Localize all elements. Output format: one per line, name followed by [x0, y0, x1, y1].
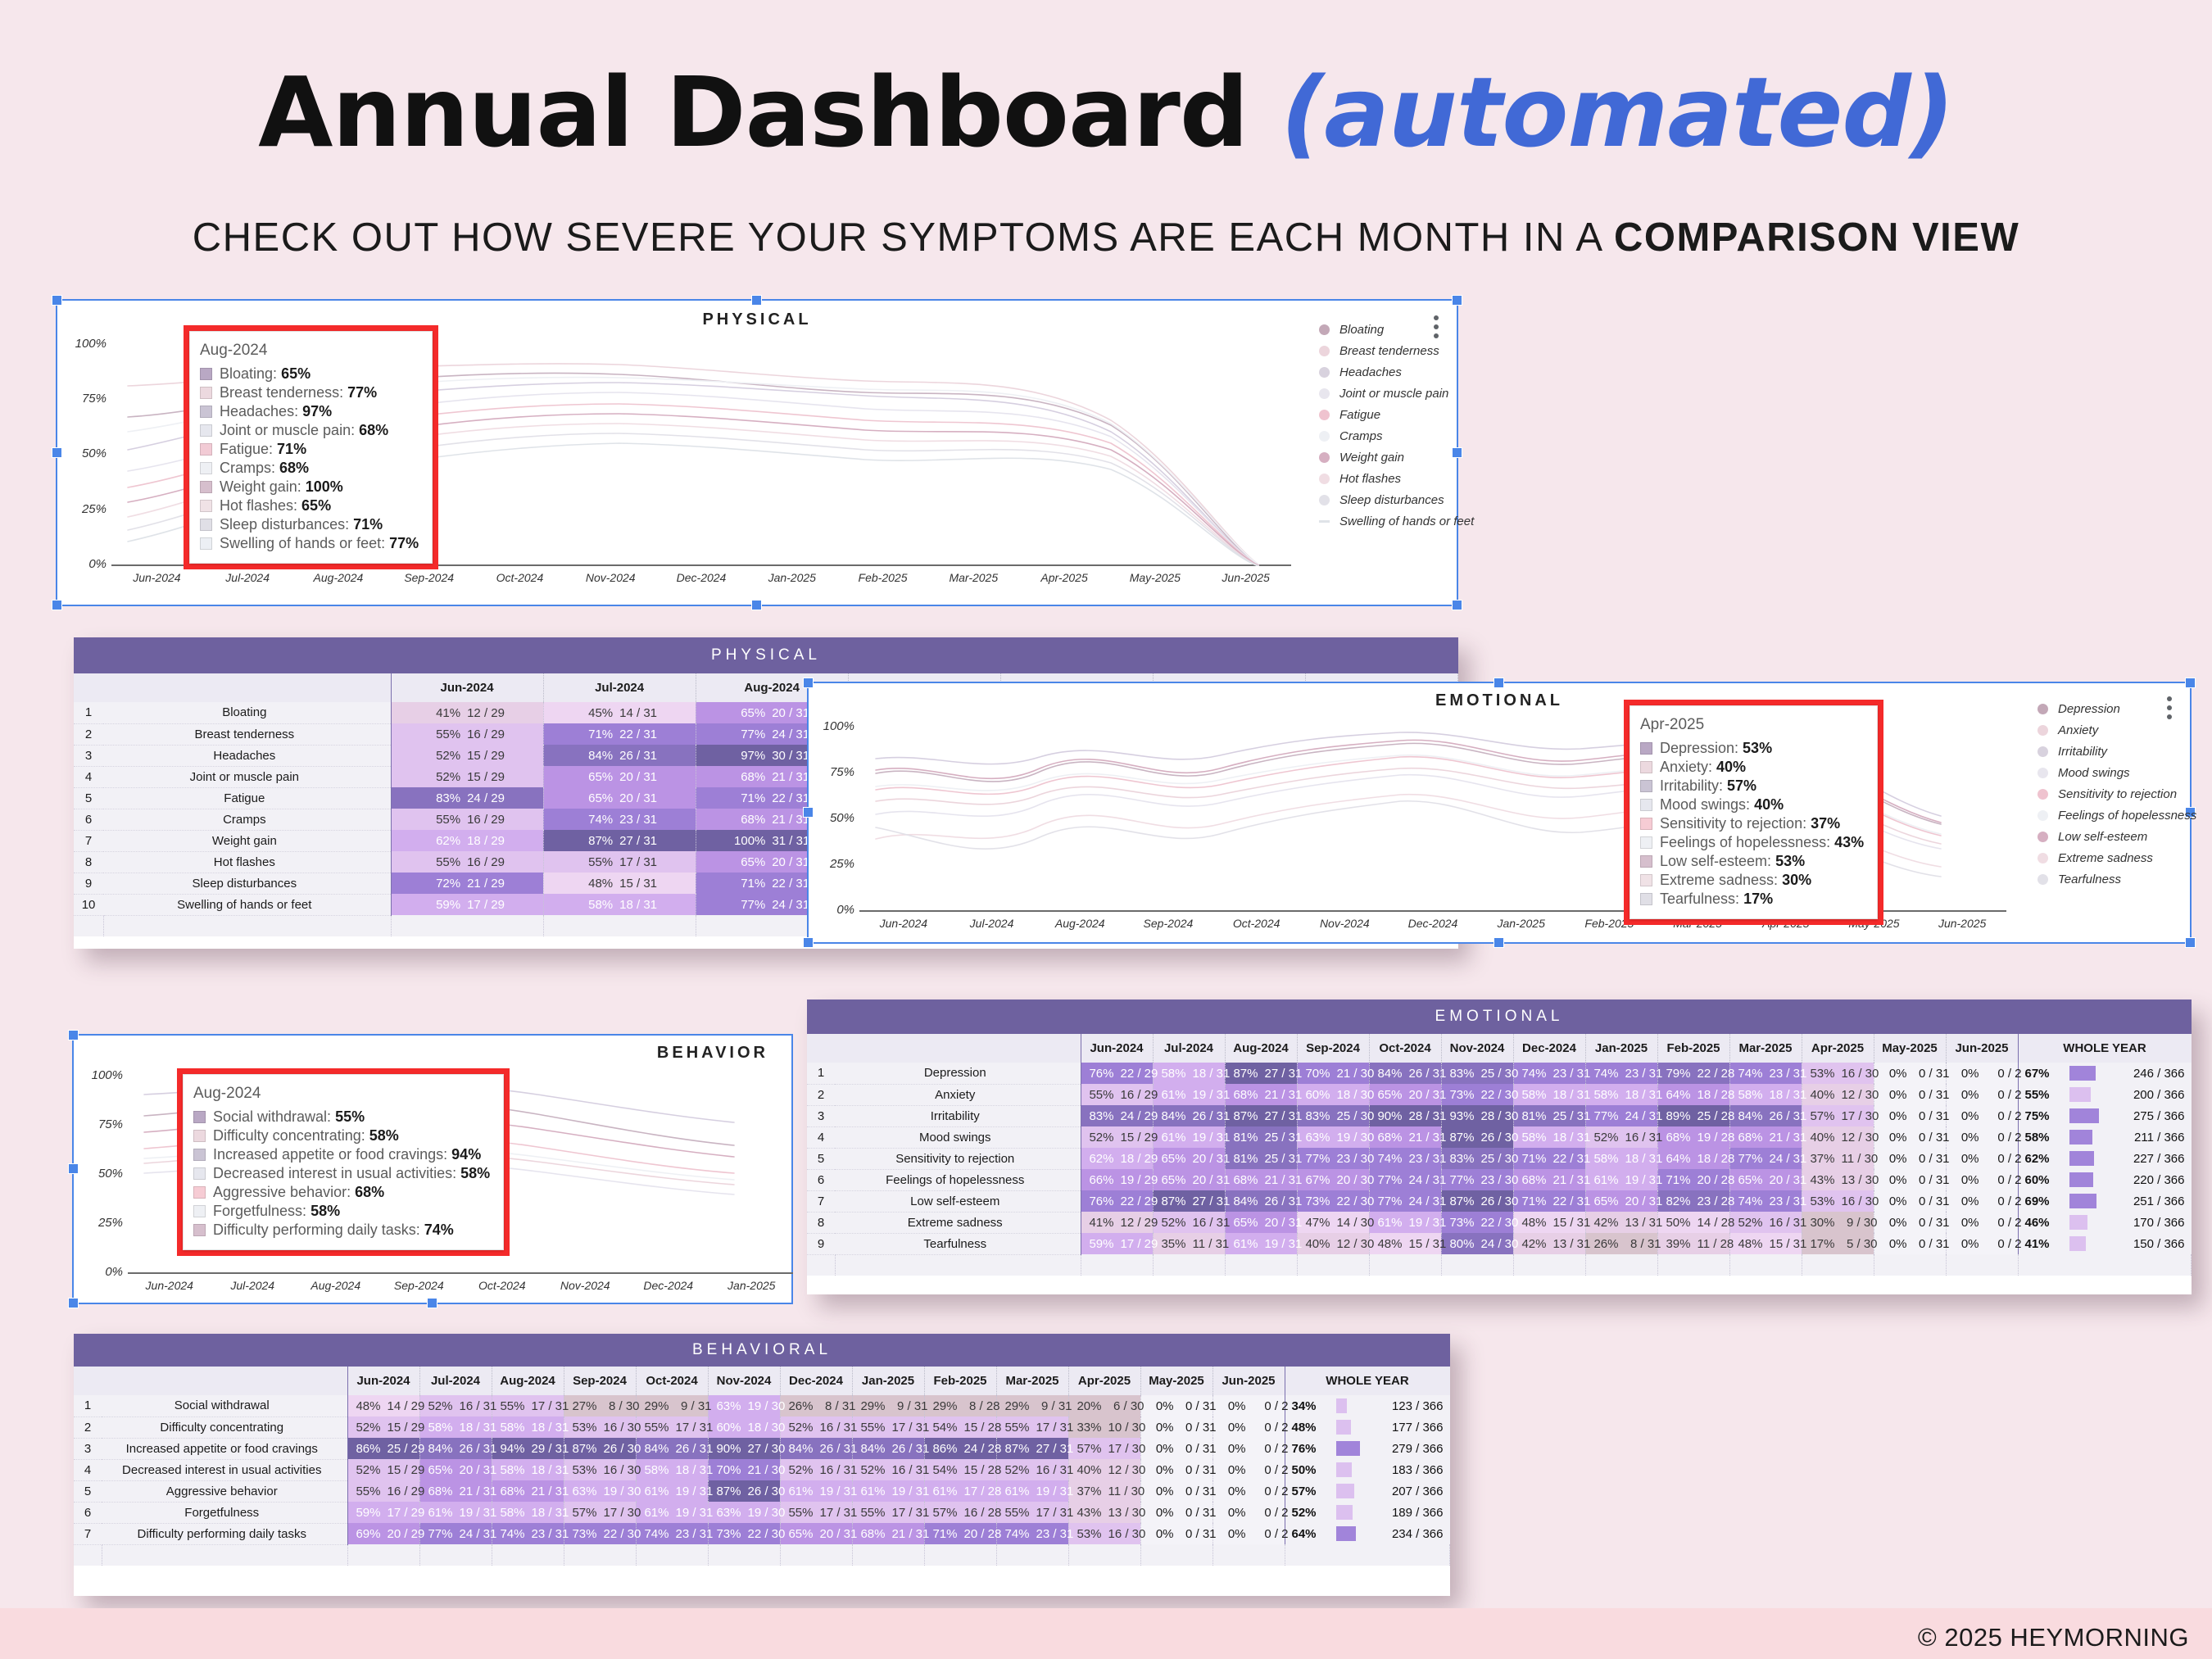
- legend-dot-icon: [1319, 495, 1330, 505]
- cell-days: 20 / 31: [820, 1527, 858, 1541]
- cell-days: 0 / 2: [1986, 1088, 2022, 1102]
- month-cell: 77%24 / 31: [1729, 1148, 1802, 1169]
- month-cell: 0%0 / 2: [1946, 1212, 2018, 1233]
- cell-days: 18 / 31: [1625, 1088, 1663, 1102]
- y-tick-25: 25%: [64, 502, 107, 516]
- month-cell: 29%8 / 28: [924, 1395, 996, 1416]
- cell-days: 25 / 31: [1265, 1152, 1303, 1166]
- cell-days: 0 / 2: [1986, 1067, 2022, 1081]
- col-whole-year: WHOLE YEAR: [1285, 1367, 1450, 1395]
- month-cell: 55%17 / 31: [996, 1416, 1068, 1438]
- col-symptom: [102, 1367, 347, 1395]
- cell-days: 19 / 29: [1121, 1173, 1158, 1187]
- resize-handle-bottom-center[interactable]: [427, 1298, 437, 1308]
- row-index: 5: [807, 1148, 835, 1169]
- legend-label: Cramps: [1339, 429, 1383, 443]
- month-cell: 45%14 / 31: [543, 702, 696, 723]
- cell-days: 0 / 2: [1986, 1216, 2022, 1230]
- col-index: [74, 1367, 102, 1395]
- legend-label: Weight gain: [1339, 451, 1404, 465]
- physical-chart-widget[interactable]: PHYSICAL 100% 75% 50% 25% 0%: [56, 299, 1458, 606]
- x-tick: Jun-2024: [111, 571, 202, 584]
- tooltip-value: 74%: [424, 1222, 454, 1239]
- cell-days: 22 / 30: [1481, 1216, 1519, 1230]
- cell-days: 24 / 31: [1409, 1194, 1447, 1208]
- legend-item[interactable]: Headaches: [1319, 361, 1474, 383]
- whole-year-fraction: 189 / 366: [1368, 1506, 1444, 1520]
- legend-item[interactable]: Depression: [2037, 698, 2196, 719]
- month-cell: 79%22 / 28: [1657, 1063, 1729, 1084]
- month-cell: 74%23 / 31: [1369, 1148, 1441, 1169]
- cell-days: 23 / 31: [1036, 1527, 1074, 1541]
- month-cell: 48%15 / 31: [1513, 1212, 1585, 1233]
- cell-percent: 45%: [582, 706, 613, 720]
- cell-days: 8 / 31: [820, 1399, 856, 1413]
- resize-handle-mid-left[interactable]: [52, 447, 62, 458]
- col-month: Feb-2025: [1657, 1034, 1729, 1063]
- behavioral-table-card: BEHAVIORAL Jun-2024Jul-2024Aug-2024Sep-2…: [74, 1334, 1450, 1596]
- cell-days: 26 / 30: [1481, 1131, 1519, 1145]
- emotional-chart-widget[interactable]: EMOTIONAL 100% 75% 50% 25% 0%: [807, 682, 2192, 944]
- resize-handle-bottom-center[interactable]: [1494, 937, 1504, 948]
- cell-percent: 52%: [1155, 1216, 1186, 1230]
- month-cell: 0%0 / 2: [1213, 1523, 1285, 1544]
- resize-handle-bottom-right[interactable]: [1452, 600, 1462, 610]
- cell-days: 22 / 30: [1337, 1194, 1375, 1208]
- cell-days: 24 / 29: [1121, 1109, 1158, 1123]
- month-cell: 0%0 / 2: [1213, 1480, 1285, 1502]
- legend-item[interactable]: Swelling of hands or feet: [1319, 510, 1474, 532]
- cell-percent: 68%: [734, 770, 765, 784]
- month-cell: 58%18 / 31: [1585, 1148, 1657, 1169]
- legend-item[interactable]: Joint or muscle pain: [1319, 383, 1474, 404]
- month-cell: 58%18 / 31: [636, 1459, 708, 1480]
- cell-days: 0 / 2: [1986, 1237, 2022, 1251]
- legend-item[interactable]: Anxiety: [2037, 719, 2196, 741]
- month-cell: 70%21 / 30: [1297, 1063, 1369, 1084]
- month-cell: 66%19 / 29: [1081, 1169, 1153, 1190]
- cell-percent: 65%: [582, 770, 613, 784]
- cell-percent: 79%: [1660, 1067, 1691, 1081]
- cell-percent: 84%: [582, 749, 613, 763]
- cell-percent: 73%: [1444, 1088, 1475, 1102]
- month-cell: 41%12 / 29: [391, 702, 543, 723]
- emotional-tooltip-highlight: Apr-2025 Depression:53%Anxiety:40%Irrita…: [1624, 700, 1883, 925]
- cell-percent: 58%: [638, 1463, 669, 1477]
- month-cell: 83%25 / 30: [1441, 1148, 1513, 1169]
- tooltip-row: Aggressive behavior:68%: [193, 1183, 490, 1202]
- month-cell: 0%0 / 31: [1140, 1480, 1213, 1502]
- cell-percent: 68%: [494, 1484, 525, 1498]
- month-cell: 55%16 / 29: [347, 1480, 419, 1502]
- cell-percent: 77%: [1588, 1109, 1619, 1123]
- month-cell: 68%21 / 31: [852, 1523, 924, 1544]
- page-subtitle-text: CHECK OUT HOW SEVERE YOUR SYMPTOMS ARE E…: [193, 215, 1614, 260]
- month-cell: 0%0 / 31: [1140, 1438, 1213, 1459]
- legend-item[interactable]: Tearfulness: [2037, 868, 2196, 890]
- cell-percent: 93%: [1444, 1109, 1475, 1123]
- cell-days: 27 / 31: [1265, 1109, 1303, 1123]
- table-row: 6Feelings of hopelessness66%19 / 2965%20…: [807, 1169, 2192, 1190]
- month-cell: 43%13 / 30: [1068, 1502, 1140, 1523]
- month-cell: 0%0 / 31: [1140, 1395, 1213, 1416]
- x-tick: May-2025: [1109, 571, 1200, 584]
- cell-days: 21 / 31: [1770, 1131, 1807, 1145]
- month-cell: 68%21 / 31: [1225, 1169, 1297, 1190]
- cell-days: 21 / 31: [460, 1484, 497, 1498]
- tooltip-value: 17%: [1743, 891, 1773, 908]
- cell-percent: 67%: [1299, 1173, 1330, 1187]
- y-tick-50: 50%: [64, 446, 107, 460]
- col-month: May-2025: [1874, 1034, 1946, 1063]
- cell-percent: 71%: [1516, 1194, 1547, 1208]
- cell-days: 16 / 31: [820, 1421, 858, 1435]
- whole-year-bar: [2069, 1108, 2100, 1123]
- month-cell: 40%12 / 30: [1068, 1459, 1140, 1480]
- cell-percent: 0%: [1143, 1463, 1174, 1477]
- cell-days: 12 / 29: [1121, 1216, 1158, 1230]
- cell-percent: 41%: [1083, 1216, 1114, 1230]
- row-index: 3: [74, 1438, 102, 1459]
- cell-percent: 61%: [638, 1506, 669, 1520]
- behavior-chart-widget[interactable]: BEHAVIOR 100% 75% 50% 25% 0% Jun-2024Jul…: [72, 1034, 793, 1304]
- month-cell: 65%20 / 31: [543, 766, 696, 787]
- legend-item[interactable]: Feelings of hopelessness: [2037, 805, 2196, 826]
- whole-year-percent: 41%: [2025, 1237, 2069, 1251]
- table-row: 3Irritability83%24 / 2984%26 / 3187%27 /…: [807, 1105, 2192, 1126]
- month-cell: 68%21 / 31: [1225, 1084, 1297, 1105]
- tooltip-row: Extreme sadness:30%: [1640, 871, 1864, 890]
- legend-label: Extreme sadness: [2058, 851, 2153, 865]
- physical-table-band: PHYSICAL: [74, 637, 1458, 673]
- cell-percent: 65%: [782, 1527, 814, 1541]
- cell-days: 24 / 31: [772, 728, 809, 741]
- cell-percent: 61%: [1371, 1216, 1403, 1230]
- table-row: 2Difficulty concentrating52%15 / 2958%18…: [74, 1416, 1450, 1438]
- cell-days: 19 / 31: [1036, 1484, 1074, 1498]
- tooltip-label: Mood swings:: [1660, 796, 1750, 814]
- cell-percent: 53%: [1071, 1527, 1102, 1541]
- cell-days: 30 / 31: [772, 749, 809, 763]
- month-cell: 0%0 / 2: [1946, 1190, 2018, 1212]
- cell-days: 25 / 30: [1337, 1109, 1375, 1123]
- month-cell: 84%26 / 31: [1225, 1190, 1297, 1212]
- cell-days: 19 / 31: [1193, 1088, 1231, 1102]
- month-cell: 61%19 / 31: [1225, 1233, 1297, 1254]
- cell-days: 27 / 31: [1193, 1194, 1231, 1208]
- cell-percent: 84%: [422, 1442, 453, 1456]
- x-tick: Dec-2024: [656, 571, 747, 584]
- row-index: 4: [74, 1459, 102, 1480]
- month-cell: 0%0 / 2: [1946, 1084, 2018, 1105]
- cell-days: 17 / 31: [820, 1506, 858, 1520]
- month-cell: 0%0 / 2: [1946, 1148, 2018, 1169]
- col-month: Jun-2024: [391, 673, 543, 702]
- month-cell: 93%28 / 30: [1441, 1105, 1513, 1126]
- cell-days: 12 / 29: [467, 706, 505, 720]
- month-cell: 74%23 / 31: [1513, 1063, 1585, 1084]
- cell-days: 19 / 31: [676, 1506, 714, 1520]
- tooltip-value: 71%: [353, 516, 383, 533]
- cell-days: 17 / 31: [619, 855, 657, 869]
- tooltip-row: Forgetfulness:58%: [193, 1202, 490, 1221]
- resize-handle-bottom-right[interactable]: [2185, 937, 2196, 948]
- resize-handle-bottom-left[interactable]: [803, 937, 814, 948]
- tooltip-row: Feelings of hopelessness:43%: [1640, 833, 1864, 852]
- month-cell: 0%0 / 31: [1140, 1459, 1213, 1480]
- tooltip-swatch-icon: [193, 1167, 206, 1180]
- month-cell: 61%19 / 31: [780, 1480, 852, 1502]
- cell-percent: 17%: [1804, 1237, 1835, 1251]
- tooltip-value: 53%: [1775, 853, 1805, 870]
- cell-days: 23 / 31: [676, 1527, 714, 1541]
- cell-days: 19 / 31: [1625, 1173, 1663, 1187]
- month-cell: 26%8 / 31: [1585, 1233, 1657, 1254]
- cell-percent: 87%: [1444, 1194, 1475, 1208]
- whole-year-bar-track: [1336, 1398, 1368, 1413]
- page-title-main: Annual Dashboard: [258, 56, 1281, 169]
- cell-days: 17 / 31: [892, 1506, 930, 1520]
- tooltip-label: Aggressive behavior:: [213, 1184, 351, 1201]
- whole-year-percent: 50%: [1292, 1463, 1336, 1477]
- legend-item[interactable]: Breast tenderness: [1319, 340, 1474, 361]
- resize-handle-bottom-center[interactable]: [751, 600, 762, 610]
- col-month: Dec-2024: [780, 1367, 852, 1395]
- cell-percent: 0%: [1876, 1216, 1907, 1230]
- tooltip-row: Increased appetite or food cravings:94%: [193, 1145, 490, 1164]
- legend-item[interactable]: Fatigue: [1319, 404, 1474, 425]
- month-cell: 84%26 / 31: [1729, 1105, 1802, 1126]
- cell-days: 15 / 28: [964, 1463, 1002, 1477]
- resize-handle-top-center[interactable]: [751, 295, 762, 306]
- col-month: Apr-2025: [1068, 1367, 1140, 1395]
- month-cell: 40%12 / 30: [1802, 1126, 1874, 1148]
- month-cell: 0%0 / 31: [1140, 1523, 1213, 1544]
- tooltip-swatch-icon: [200, 519, 212, 531]
- cell-days: 19 / 31: [820, 1484, 858, 1498]
- cell-days: 8 / 31: [1625, 1237, 1661, 1251]
- row-symptom-name: Low self-esteem: [835, 1190, 1081, 1212]
- month-cell: 55%17 / 31: [780, 1502, 852, 1523]
- month-cell: 0%0 / 31: [1874, 1105, 1946, 1126]
- cell-days: 15 / 29: [467, 770, 505, 784]
- cell-days: 26 / 31: [892, 1442, 930, 1456]
- cell-days: 23 / 31: [532, 1527, 569, 1541]
- month-cell: 63%19 / 30: [708, 1502, 780, 1523]
- month-cell: 55%17 / 31: [852, 1502, 924, 1523]
- month-cell: 0%0 / 31: [1874, 1212, 1946, 1233]
- tooltip-value: 58%: [310, 1203, 340, 1220]
- cell-percent: 87%: [710, 1484, 741, 1498]
- cell-percent: 63%: [710, 1399, 741, 1413]
- month-cell: 86%25 / 29: [347, 1438, 419, 1459]
- tooltip-row: Low self-esteem:53%: [1640, 852, 1864, 871]
- legend-item[interactable]: Mood swings: [2037, 762, 2196, 783]
- tooltip-label: Decreased interest in usual activities:: [213, 1165, 456, 1182]
- month-cell: 87%26 / 30: [708, 1480, 780, 1502]
- legend-item[interactable]: Sensitivity to rejection: [2037, 783, 2196, 805]
- cell-percent: 41%: [429, 706, 460, 720]
- month-cell: 55%16 / 29: [391, 723, 543, 745]
- cell-days: 0 / 31: [1914, 1131, 1950, 1145]
- month-cell: 55%16 / 29: [391, 809, 543, 830]
- month-cell: 0%0 / 31: [1874, 1190, 1946, 1212]
- cell-days: 22 / 28: [1698, 1067, 1735, 1081]
- month-cell: 87%26 / 30: [1441, 1126, 1513, 1148]
- cell-percent: 70%: [1299, 1067, 1330, 1081]
- tooltip-value: 30%: [1782, 872, 1811, 889]
- cell-days: 15 / 29: [467, 749, 505, 763]
- whole-year-cell: 55%200 / 366: [2018, 1084, 2192, 1105]
- row-index: 7: [74, 830, 103, 851]
- cell-percent: 77%: [1371, 1194, 1403, 1208]
- legend-item[interactable]: Extreme sadness: [2037, 847, 2196, 868]
- legend-item[interactable]: Low self-esteem: [2037, 826, 2196, 847]
- cell-days: 8 / 28: [964, 1399, 1000, 1413]
- cell-percent: 0%: [1143, 1421, 1174, 1435]
- legend-item[interactable]: Irritability: [2037, 741, 2196, 762]
- row-symptom-name: Mood swings: [835, 1126, 1081, 1148]
- table-row: 1Depression76%22 / 2958%18 / 3187%27 / 3…: [807, 1063, 2192, 1084]
- tooltip-label: Cramps:: [220, 460, 275, 477]
- whole-year-fraction: 275 / 366: [2110, 1109, 2185, 1123]
- y-tick-75: 75%: [64, 392, 107, 406]
- month-cell: 0%0 / 2: [1213, 1395, 1285, 1416]
- cell-percent: 68%: [854, 1527, 886, 1541]
- month-cell: 52%16 / 31: [1729, 1212, 1802, 1233]
- month-cell: 90%28 / 31: [1369, 1105, 1441, 1126]
- col-month: Apr-2025: [1802, 1034, 1874, 1063]
- cell-percent: 59%: [350, 1506, 381, 1520]
- cell-days: 0 / 2: [1986, 1131, 2022, 1145]
- cell-days: 20 / 31: [772, 706, 809, 720]
- row-index: 2: [807, 1084, 835, 1105]
- month-cell: 20%6 / 30: [1068, 1395, 1140, 1416]
- cell-percent: 84%: [1732, 1109, 1763, 1123]
- resize-handle-top-left[interactable]: [803, 678, 814, 688]
- row-symptom-name: Difficulty concentrating: [102, 1416, 347, 1438]
- legend-dot-icon: [1319, 324, 1330, 335]
- resize-handle-mid-left[interactable]: [68, 1163, 79, 1174]
- legend-item[interactable]: Weight gain: [1319, 446, 1474, 468]
- cell-percent: 62%: [1083, 1152, 1114, 1166]
- cell-days: 23 / 30: [1481, 1173, 1519, 1187]
- legend-label: Sensitivity to rejection: [2058, 787, 2177, 801]
- month-cell: 52%15 / 29: [1081, 1126, 1153, 1148]
- cell-days: 25 / 31: [1553, 1109, 1591, 1123]
- month-cell: 48%15 / 31: [543, 873, 696, 894]
- month-cell: 77%24 / 31: [1369, 1190, 1441, 1212]
- emotional-tooltip: Apr-2025 Depression:53%Anxiety:40%Irrita…: [1630, 705, 1878, 919]
- y-tick-50: 50%: [812, 811, 854, 825]
- whole-year-fraction: 227 / 366: [2110, 1152, 2185, 1166]
- month-cell: 61%17 / 28: [924, 1480, 996, 1502]
- cell-percent: 71%: [734, 791, 765, 805]
- cell-percent: 48%: [1371, 1237, 1403, 1251]
- cell-days: 17 / 30: [1108, 1442, 1146, 1456]
- row-index: 1: [74, 1395, 102, 1416]
- cell-days: 13 / 30: [1842, 1173, 1879, 1187]
- legend-item[interactable]: Bloating: [1319, 319, 1474, 340]
- month-cell: 86%24 / 28: [924, 1438, 996, 1459]
- tooltip-row: Difficulty concentrating:58%: [193, 1126, 490, 1145]
- cell-days: 9 / 31: [1036, 1399, 1072, 1413]
- tooltip-row: Decreased interest in usual activities:5…: [193, 1164, 490, 1183]
- row-index: 7: [74, 1523, 102, 1544]
- col-month: Nov-2024: [708, 1367, 780, 1395]
- whole-year-bar: [2069, 1130, 2092, 1145]
- month-cell: 55%17 / 31: [636, 1416, 708, 1438]
- resize-handle-top-center[interactable]: [1494, 678, 1504, 688]
- tooltip-row: Headaches:97%: [200, 402, 419, 421]
- row-symptom-name: Hot flashes: [103, 851, 391, 873]
- row-index: 2: [74, 1416, 102, 1438]
- month-cell: 48%14 / 29: [347, 1395, 419, 1416]
- whole-year-fraction: 177 / 366: [1368, 1421, 1444, 1435]
- resize-handle-top-left[interactable]: [68, 1030, 79, 1040]
- row-index: 8: [807, 1212, 835, 1233]
- month-cell: 76%22 / 29: [1081, 1190, 1153, 1212]
- resize-handle-top-right[interactable]: [2185, 678, 2196, 688]
- legend-item[interactable]: Cramps: [1319, 425, 1474, 446]
- cell-days: 21 / 29: [467, 877, 505, 891]
- month-cell: 50%14 / 28: [1657, 1212, 1729, 1233]
- cell-percent: 61%: [1588, 1173, 1619, 1187]
- cell-days: 0 / 31: [1914, 1194, 1950, 1208]
- legend-item[interactable]: Sleep disturbances: [1319, 489, 1474, 510]
- month-cell: 76%22 / 29: [1081, 1063, 1153, 1084]
- month-cell: 71%22 / 31: [1513, 1190, 1585, 1212]
- resize-handle-top-right[interactable]: [1452, 295, 1462, 306]
- legend-item[interactable]: Hot flashes: [1319, 468, 1474, 489]
- cell-days: 16 / 31: [1036, 1463, 1074, 1477]
- cell-days: 17 / 31: [1036, 1506, 1074, 1520]
- legend-label: Swelling of hands or feet: [1339, 514, 1474, 528]
- cell-days: 19 / 30: [1337, 1131, 1375, 1145]
- legend-dash-icon: [1319, 520, 1330, 523]
- cell-percent: 62%: [429, 834, 460, 848]
- resize-handle-bottom-left[interactable]: [68, 1298, 79, 1308]
- col-symptom: [835, 1034, 1081, 1063]
- cell-percent: 73%: [710, 1527, 741, 1541]
- month-cell: 27%8 / 30: [564, 1395, 636, 1416]
- whole-year-bar: [1336, 1526, 1357, 1541]
- cell-percent: 52%: [350, 1463, 381, 1477]
- cell-percent: 0%: [1876, 1088, 1907, 1102]
- col-month: Feb-2025: [924, 1367, 996, 1395]
- whole-year-cell: 46%170 / 366: [2018, 1212, 2192, 1233]
- whole-year-fraction: 246 / 366: [2110, 1067, 2185, 1081]
- cell-days: 24 / 31: [1770, 1152, 1807, 1166]
- tooltip-label: Sleep disturbances:: [220, 516, 349, 533]
- cell-days: 18 / 28: [1698, 1088, 1735, 1102]
- cell-percent: 0%: [1143, 1442, 1174, 1456]
- row-symptom-name: Fatigue: [103, 787, 391, 809]
- cell-days: 12 / 30: [1337, 1237, 1375, 1251]
- cell-percent: 63%: [1299, 1131, 1330, 1145]
- tooltip-row: Anxiety:40%: [1640, 758, 1864, 777]
- month-cell: 58%18 / 31: [543, 894, 696, 915]
- cell-days: 20 / 29: [388, 1527, 425, 1541]
- cell-percent: 52%: [854, 1463, 886, 1477]
- row-index: 4: [74, 766, 103, 787]
- whole-year-fraction: 170 / 366: [2110, 1216, 2185, 1230]
- resize-handle-top-left[interactable]: [52, 295, 62, 306]
- cell-percent: 37%: [1804, 1152, 1835, 1166]
- cell-percent: 63%: [710, 1506, 741, 1520]
- x-tick: Sep-2024: [1124, 917, 1213, 930]
- resize-handle-bottom-left[interactable]: [52, 600, 62, 610]
